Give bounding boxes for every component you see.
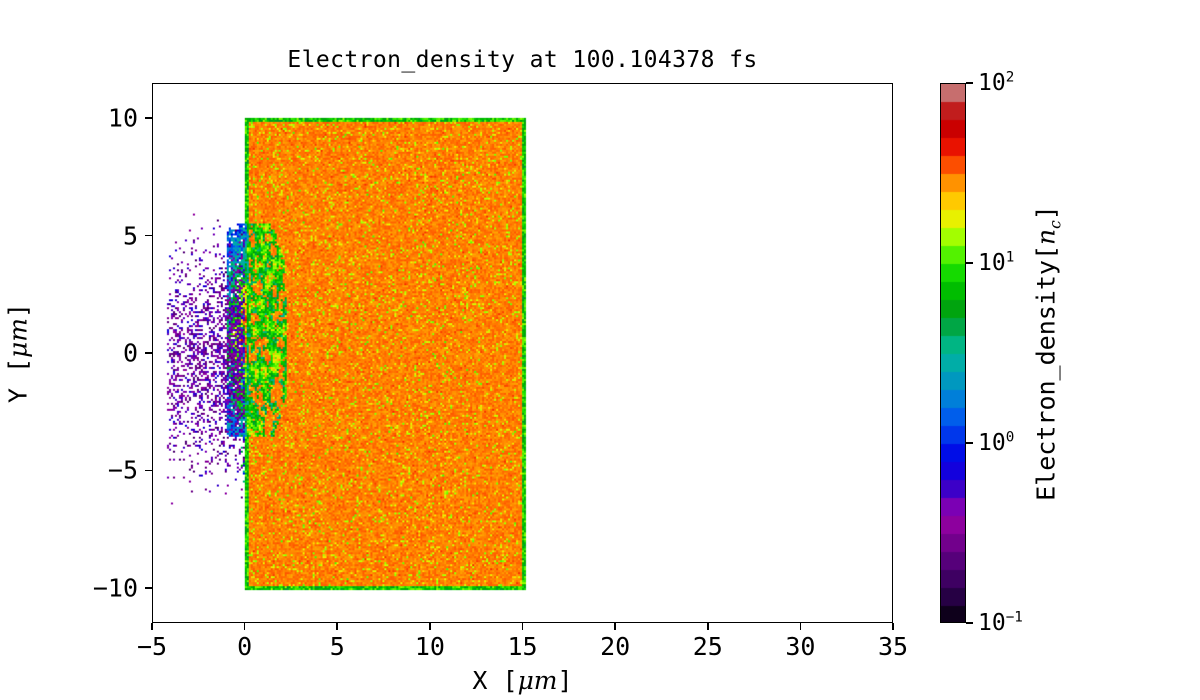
figure-canvas: Electron_density at 100.104378 fs −50510… bbox=[0, 0, 1200, 700]
x-tick-label-4: 15 bbox=[507, 632, 537, 661]
y-tick-mark bbox=[145, 587, 152, 589]
x-axis-label-text: X [ bbox=[472, 666, 517, 695]
colorbar-tick-mark bbox=[966, 262, 973, 264]
x-tick-label-5: 20 bbox=[600, 632, 630, 661]
colorbar-tick-label-1: 101 bbox=[978, 250, 1014, 276]
x-tick-mark bbox=[151, 623, 153, 630]
colorbar-tick-mantissa: 10 bbox=[978, 610, 1006, 636]
y-tick-mark bbox=[145, 352, 152, 354]
x-axis-label: X [μm] bbox=[152, 666, 893, 695]
colorbar-tick-mark bbox=[966, 622, 973, 624]
colorbar-gradient bbox=[940, 83, 966, 623]
colorbar-tick-exponent: −1 bbox=[1006, 609, 1023, 625]
colorbar-tick-exponent: 1 bbox=[1006, 249, 1015, 265]
y-tick-mark bbox=[145, 117, 152, 119]
y-tick-mark bbox=[145, 470, 152, 472]
colorbar-label-symbol: n bbox=[1032, 229, 1061, 245]
x-tick-mark bbox=[429, 623, 431, 630]
y-axis-label: Y [μm] bbox=[4, 303, 33, 403]
y-tick-label-1: 5 bbox=[123, 221, 138, 250]
y-axis-label-text: Y [ bbox=[4, 358, 33, 403]
y-tick-label-4: −10 bbox=[93, 573, 138, 602]
colorbar-tick-mantissa: 10 bbox=[978, 70, 1006, 96]
x-tick-mark bbox=[800, 623, 802, 630]
colorbar-tick-exponent: 0 bbox=[1006, 429, 1015, 445]
colorbar-label: Electron_density[nc] bbox=[1032, 205, 1061, 501]
y-axis-label-close: ] bbox=[4, 303, 33, 318]
page-title: Electron_density at 100.104378 fs bbox=[152, 47, 893, 73]
y-axis-unit: μm bbox=[4, 318, 33, 358]
x-tick-mark bbox=[614, 623, 616, 630]
x-tick-label-6: 25 bbox=[693, 632, 723, 661]
colorbar-label-main: Electron_density[ bbox=[1032, 245, 1061, 501]
x-axis-label-close: ] bbox=[558, 666, 573, 695]
colorbar-tick-mantissa: 10 bbox=[978, 250, 1006, 276]
colorbar[interactable] bbox=[940, 83, 966, 623]
x-tick-label-8: 35 bbox=[878, 632, 908, 661]
x-tick-mark bbox=[336, 623, 338, 630]
x-tick-label-7: 30 bbox=[785, 632, 815, 661]
y-tick-mark bbox=[145, 235, 152, 237]
colorbar-label-close: ] bbox=[1032, 205, 1061, 220]
x-tick-mark bbox=[244, 623, 246, 630]
colorbar-tick-label-0: 102 bbox=[978, 70, 1014, 96]
colorbar-tick-mark bbox=[966, 442, 973, 444]
x-tick-mark bbox=[892, 623, 894, 630]
colorbar-tick-mantissa: 10 bbox=[978, 430, 1006, 456]
y-tick-label-3: −5 bbox=[108, 456, 138, 485]
colorbar-tick-mark bbox=[966, 82, 973, 84]
x-axis-unit: μm bbox=[518, 666, 558, 695]
colorbar-tick-exponent: 2 bbox=[1006, 69, 1015, 85]
colorbar-tick-label-2: 100 bbox=[978, 430, 1014, 456]
y-tick-label-0: 10 bbox=[108, 104, 138, 133]
x-tick-label-2: 5 bbox=[330, 632, 345, 661]
x-tick-mark bbox=[707, 623, 709, 630]
x-tick-mark bbox=[522, 623, 524, 630]
x-tick-label-0: −5 bbox=[137, 632, 167, 661]
electron-density-heatmap[interactable] bbox=[153, 84, 892, 622]
x-tick-label-3: 10 bbox=[415, 632, 445, 661]
x-tick-label-1: 0 bbox=[237, 632, 252, 661]
y-tick-label-2: 0 bbox=[123, 339, 138, 368]
plot-axes-frame[interactable] bbox=[152, 83, 893, 623]
colorbar-label-subscript: c bbox=[1047, 220, 1065, 229]
colorbar-tick-label-3: 10−1 bbox=[978, 610, 1023, 636]
